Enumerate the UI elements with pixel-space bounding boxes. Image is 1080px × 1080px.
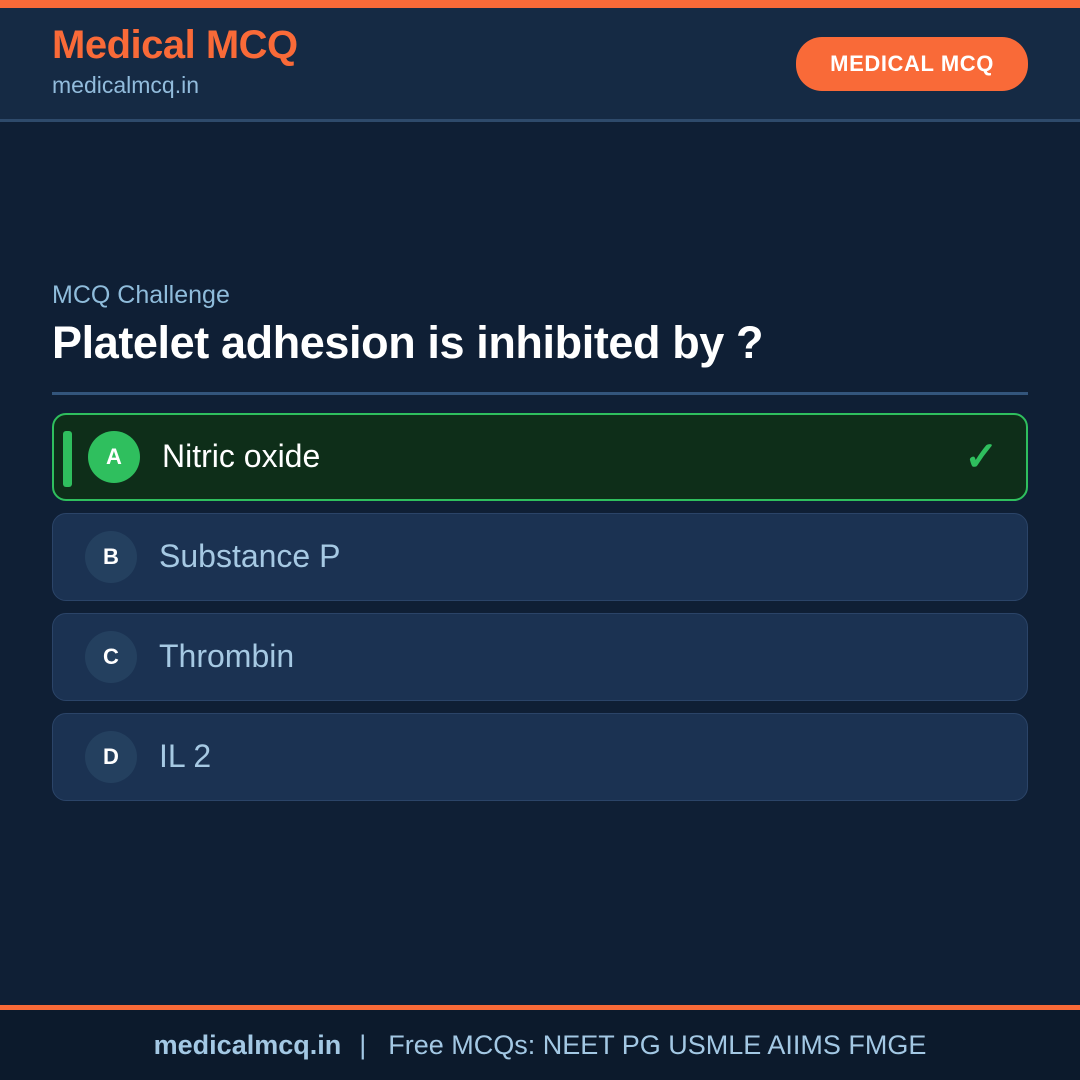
option-text-d: IL 2	[159, 739, 211, 774]
footer: medicalmcq.in | Free MCQs: NEET PG USMLE…	[0, 1010, 1080, 1080]
option-letter-d: D	[85, 731, 137, 783]
option-text-a: Nitric oxide	[162, 439, 320, 474]
question-text: Platelet adhesion is inhibited by ?	[52, 316, 1028, 370]
option-letter-a: A	[88, 431, 140, 483]
options-list: A Nitric oxide ✓ B Substance P C Thrombi…	[52, 413, 1028, 801]
quiz-block: MCQ Challenge Platelet adhesion is inhib…	[52, 280, 1028, 801]
check-icon: ✓	[964, 437, 1002, 477]
option-row-d[interactable]: D IL 2	[52, 713, 1028, 801]
brand-website: medicalmcq.in	[52, 68, 298, 103]
option-row-c[interactable]: C Thrombin	[52, 613, 1028, 701]
brand: Medical MCQ medicalmcq.in	[52, 24, 298, 103]
brand-title: Medical MCQ	[52, 24, 298, 66]
option-row-b[interactable]: B Substance P	[52, 513, 1028, 601]
option-row-a[interactable]: A Nitric oxide ✓	[52, 413, 1028, 501]
quiz-eyebrow: MCQ Challenge	[52, 280, 1028, 310]
option-text-c: Thrombin	[159, 639, 294, 674]
footer-separator: |	[341, 1030, 384, 1061]
footer-exams: Free MCQs: NEET PG USMLE AIIMS FMGE	[384, 1030, 926, 1061]
top-accent-bar	[0, 0, 1080, 8]
option-letter-c: C	[85, 631, 137, 683]
option-letter-b: B	[85, 531, 137, 583]
quiz-card: Medical MCQ medicalmcq.in MEDICAL MCQ MC…	[0, 0, 1080, 1080]
header: Medical MCQ medicalmcq.in MEDICAL MCQ	[0, 8, 1080, 122]
header-badge: MEDICAL MCQ	[796, 37, 1028, 91]
question-divider	[52, 392, 1028, 395]
correct-accent-bar	[63, 431, 72, 487]
option-text-b: Substance P	[159, 539, 340, 574]
footer-website: medicalmcq.in	[154, 1030, 342, 1061]
main-content: MCQ Challenge Platelet adhesion is inhib…	[0, 122, 1080, 1005]
